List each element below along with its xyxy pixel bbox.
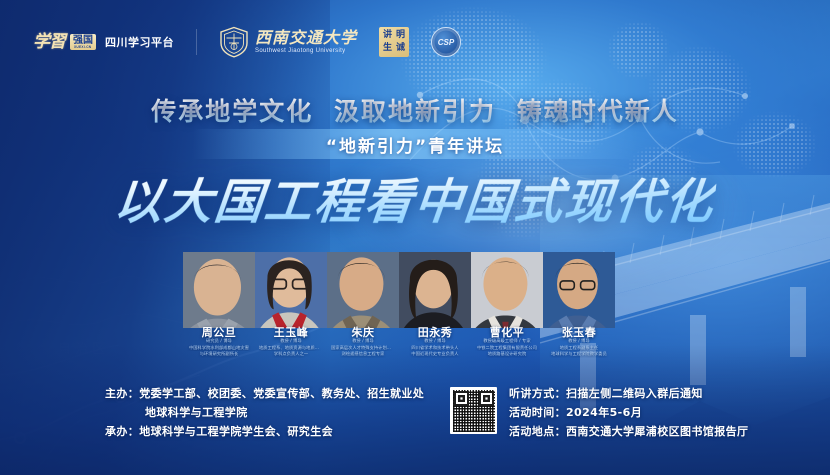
- speaker-meta-line: 测绘遥感信息工程专家: [331, 351, 395, 358]
- xuexi-platform-label: 四川学习平台: [105, 34, 174, 50]
- speaker-list: 周公旦 研究员 / 博导 中国科学院水利部成都山地灾害 与环境研究所副所长: [183, 252, 615, 370]
- main-title: 以大国工程看中国式现代化: [0, 162, 830, 232]
- xuexi-badge-subtext: XUEXI.CN: [74, 46, 91, 49]
- organizer-block: 主办：党委学工部、校团委、党委宣传部、教务处、招生就业处 地球科学与工程学院 承…: [105, 385, 424, 442]
- host-label: 主办：: [105, 387, 139, 400]
- swjtu-text-block: 西南交通大学 Southwest Jiaotong University: [255, 30, 357, 54]
- seal-char-4: 诚: [396, 44, 405, 53]
- qr-code[interactable]: [450, 387, 497, 434]
- host-line-2: 地球科学与工程学院: [105, 404, 424, 423]
- speaker-meta: 教授 / 博导 地质工程系副系主任 地球科学与工程学院教学委员: [543, 338, 615, 358]
- info-block: 听讲方式：扫描左侧二维码入群后通知 活动时间：2024年5-6月 活动地点：西南…: [450, 383, 748, 442]
- headline-row: 传承地学文化 汲取地新引力 铸魂时代新人: [0, 92, 830, 128]
- host-value: 党委学工部、校团委、党委宣传部、教务处、招生就业处: [139, 387, 424, 400]
- speaker-card[interactable]: 王玉峰 教授 / 博导 地质工程系、地质资源与地质工程 学科点负责人之一: [255, 252, 327, 370]
- main-title-text: 以大国工程看中国式现代化: [111, 162, 718, 232]
- speaker-meta-line: 学科点负责人之一: [259, 351, 323, 358]
- csp-circular-logo: CSP: [431, 27, 461, 57]
- info-value-venue: 西南交通大学犀浦校区图书馆报告厅: [566, 425, 748, 438]
- speaker-card[interactable]: 田永秀 教授 / 博导 四川省学术和技术带头人 中国近现代史专业负责人: [399, 252, 471, 370]
- info-value-attend: 扫描左侧二维码入群后通知: [566, 387, 703, 400]
- cohost-label: 承办：: [105, 425, 139, 438]
- shield-icon: [219, 26, 249, 58]
- speaker-photo: [255, 252, 327, 328]
- seal-char-1: 讲: [383, 31, 392, 40]
- seal-stamp-logo: 讲 明 生 诚: [379, 27, 409, 57]
- speaker-meta-line: 中国近现代史专业负责人: [403, 351, 467, 358]
- speaker-photo: [183, 252, 255, 328]
- speaker-card[interactable]: 朱庆 教授 / 博导 国家高层次人才特殊支持计划人才 测绘遥感信息工程专家: [327, 252, 399, 370]
- cohost-value: 地球科学与工程学院学生会、研究生会: [139, 425, 333, 438]
- speaker-portrait-graphic: [183, 252, 255, 328]
- info-label-time: 活动时间：: [509, 406, 566, 419]
- speaker-meta-line: 地质路基设计研究院: [475, 351, 539, 358]
- poster-canvas: 自 治 区 学習 强国 XUEXI.CN 四川学习平台 西南交通大学 South…: [0, 0, 830, 475]
- xuexi-badge-text: 强国: [73, 36, 93, 46]
- info-line-attend: 听讲方式：扫描左侧二维码入群后通知: [509, 385, 748, 404]
- swjtu-name-en: Southwest Jiaotong University: [255, 48, 357, 54]
- headline-part-2: 汲取地新引力: [334, 97, 496, 126]
- speaker-portrait-graphic: [399, 252, 471, 328]
- info-label-venue: 活动地点：: [509, 425, 566, 438]
- logo-swjtu: 西南交通大学 Southwest Jiaotong University: [219, 26, 357, 58]
- logo-row: 学習 强国 XUEXI.CN 四川学习平台 西南交通大学 Southwest J…: [33, 26, 461, 58]
- speaker-portrait-graphic: [543, 252, 615, 328]
- speaker-photo: [327, 252, 399, 328]
- swjtu-name-cn: 西南交通大学: [255, 30, 357, 46]
- seal-char-3: 生: [383, 44, 392, 53]
- speaker-meta: 教授 / 博导 地质工程系、地质资源与地质工程 学科点负责人之一: [255, 338, 327, 358]
- speaker-meta: 研究员 / 博导 中国科学院水利部成都山地灾害 与环境研究所副所长: [183, 338, 255, 358]
- speaker-card[interactable]: 张玉春 教授 / 博导 地质工程系副系主任 地球科学与工程学院教学委员: [543, 252, 615, 370]
- speaker-card[interactable]: 曹化平 教授级高级工程师 / 专家 中铁二院工程集团有限责任公司 地质路基设计研…: [471, 252, 543, 370]
- headline-part-3: 铸魂时代新人: [517, 97, 679, 126]
- xuexi-mark-text: 学習: [33, 34, 65, 51]
- footer: 主办：党委学工部、校团委、党委宣传部、教务处、招生就业处 地球科学与工程学院 承…: [0, 377, 830, 475]
- speaker-portrait-graphic: [471, 252, 543, 328]
- speaker-portrait-graphic: [327, 252, 399, 328]
- cohost-line: 承办：地球科学与工程学院学生会、研究生会: [105, 423, 424, 442]
- logo-divider: [196, 29, 197, 55]
- info-line-venue: 活动地点：西南交通大学犀浦校区图书馆报告厅: [509, 423, 748, 442]
- speaker-meta-line: 地球科学与工程学院教学委员: [547, 351, 611, 358]
- csp-logo-text: CSP: [438, 38, 454, 47]
- info-label-attend: 听讲方式：: [509, 387, 566, 400]
- speaker-meta-line: 教授级高级工程师 / 专家: [475, 338, 539, 345]
- speaker-portrait-graphic: [255, 252, 327, 328]
- event-info-lines: 听讲方式：扫描左侧二维码入群后通知 活动时间：2024年5-6月 活动地点：西南…: [509, 383, 748, 442]
- xuexi-badge: 强国 XUEXI.CN: [70, 34, 96, 51]
- headline-part-1: 传承地学文化: [151, 97, 313, 126]
- speaker-meta: 教授 / 博导 国家高层次人才特殊支持计划人才 测绘遥感信息工程专家: [327, 338, 399, 358]
- headline-text: 传承地学文化 汲取地新引力 铸魂时代新人: [146, 92, 683, 128]
- speaker-meta: 教授 / 博导 四川省学术和技术带头人 中国近现代史专业负责人: [399, 338, 471, 358]
- host-line: 主办：党委学工部、校团委、党委宣传部、教务处、招生就业处: [105, 385, 424, 404]
- info-line-time: 活动时间：2024年5-6月: [509, 404, 748, 423]
- speaker-photo: [399, 252, 471, 328]
- subtitle-text: “地新引力”青年讲坛: [326, 132, 504, 157]
- logo-xuexi-qiangguo: 学習 强国 XUEXI.CN 四川学习平台: [33, 34, 174, 51]
- speaker-photo: [543, 252, 615, 328]
- speaker-photo: [471, 252, 543, 328]
- speaker-meta-line: 与环境研究所副所长: [187, 351, 251, 358]
- speaker-meta: 教授级高级工程师 / 专家 中铁二院工程集团有限责任公司 地质路基设计研究院: [471, 338, 543, 358]
- seal-char-2: 明: [396, 31, 405, 40]
- speaker-card[interactable]: 周公旦 研究员 / 博导 中国科学院水利部成都山地灾害 与环境研究所副所长: [183, 252, 255, 370]
- qr-code-pattern: [453, 390, 495, 432]
- info-value-time: 2024年5-6月: [566, 406, 642, 419]
- subtitle-banner: “地新引力”青年讲坛: [193, 129, 638, 159]
